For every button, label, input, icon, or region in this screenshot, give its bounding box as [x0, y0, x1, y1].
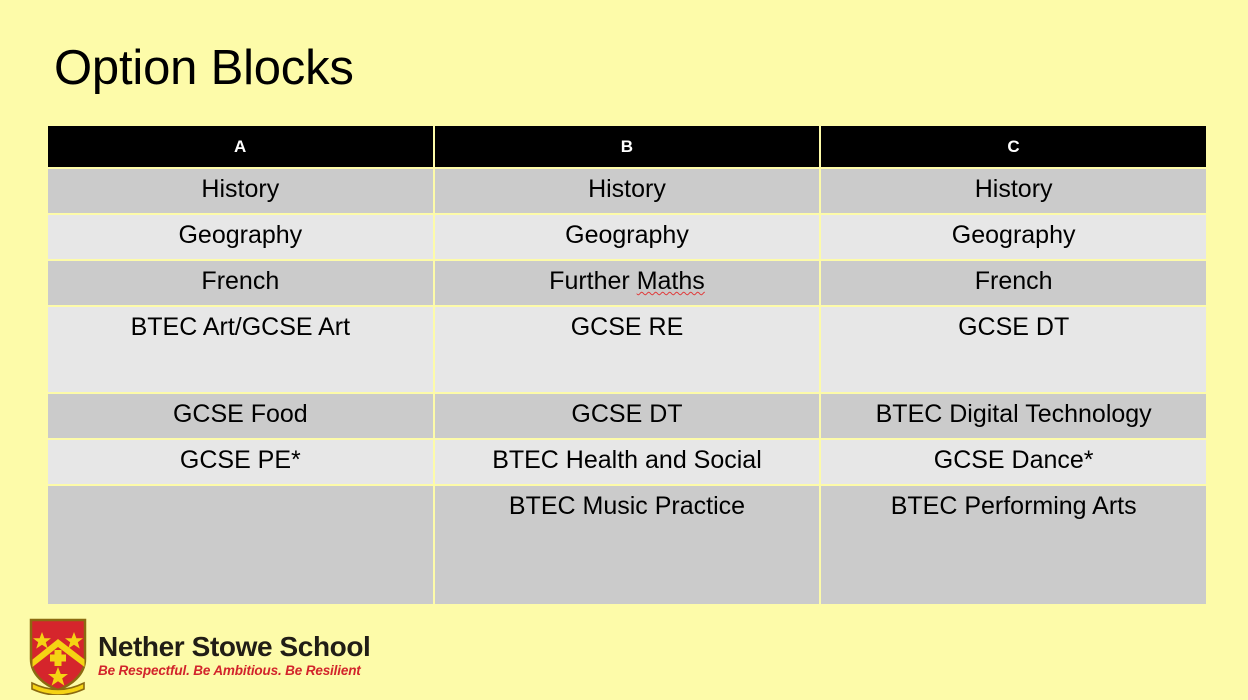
- cell-a-3: French: [48, 261, 433, 305]
- cell-c-1: History: [821, 169, 1206, 213]
- school-crest-icon: [27, 617, 89, 695]
- table-header-row: A B C: [48, 126, 1206, 167]
- cell-b-5: GCSE DT: [435, 394, 820, 438]
- cell-b-6: BTEC Health and Social: [435, 440, 820, 484]
- table-row: GCSE PE* BTEC Health and Social GCSE Dan…: [48, 440, 1206, 484]
- school-name: Nether Stowe School: [98, 631, 370, 662]
- cell-a-2: Geography: [48, 215, 433, 259]
- cell-c-6: GCSE Dance*: [821, 440, 1206, 484]
- page-title: Option Blocks: [54, 38, 354, 98]
- table-row: Geography Geography Geography: [48, 215, 1206, 259]
- logo-text-block: Nether Stowe School Be Respectful. Be Am…: [98, 631, 370, 681]
- option-blocks-table: A B C History History History Geography …: [46, 124, 1208, 606]
- cell-c-5: BTEC Digital Technology: [821, 394, 1206, 438]
- cell-b-4: GCSE RE: [435, 307, 820, 392]
- slide-canvas: Option Blocks A B C History History Hist…: [0, 0, 1248, 700]
- table-row: History History History: [48, 169, 1206, 213]
- cell-c-4: GCSE DT: [821, 307, 1206, 392]
- table-row: GCSE Food GCSE DT BTEC Digital Technolog…: [48, 394, 1206, 438]
- school-logo: Nether Stowe School Be Respectful. Be Am…: [27, 616, 357, 696]
- column-header-a: A: [48, 126, 433, 167]
- cell-c-7: BTEC Performing Arts: [821, 486, 1206, 604]
- table-body: History History History Geography Geogra…: [48, 169, 1206, 604]
- column-header-c: C: [821, 126, 1206, 167]
- table-row: BTEC Music Practice BTEC Performing Arts: [48, 486, 1206, 604]
- cell-c-3: French: [821, 261, 1206, 305]
- table-header: A B C: [48, 126, 1206, 167]
- table-row: BTEC Art/GCSE Art GCSE RE GCSE DT: [48, 307, 1206, 392]
- table-row: French Further Maths French: [48, 261, 1206, 305]
- cell-a-1: History: [48, 169, 433, 213]
- cell-a-6: GCSE PE*: [48, 440, 433, 484]
- cell-c-2: Geography: [821, 215, 1206, 259]
- cell-b-1: History: [435, 169, 820, 213]
- spellcheck-underlined-word: Maths: [637, 267, 705, 295]
- cell-a-7: [48, 486, 433, 604]
- school-tagline: Be Respectful. Be Ambitious. Be Resilien…: [98, 662, 370, 679]
- cell-a-5: GCSE Food: [48, 394, 433, 438]
- cell-text-further-maths-prefix: Further: [549, 267, 637, 295]
- cell-a-4: BTEC Art/GCSE Art: [48, 307, 433, 392]
- cell-b-3: Further Maths: [435, 261, 820, 305]
- column-header-b: B: [435, 126, 820, 167]
- cell-b-2: Geography: [435, 215, 820, 259]
- cell-b-7: BTEC Music Practice: [435, 486, 820, 604]
